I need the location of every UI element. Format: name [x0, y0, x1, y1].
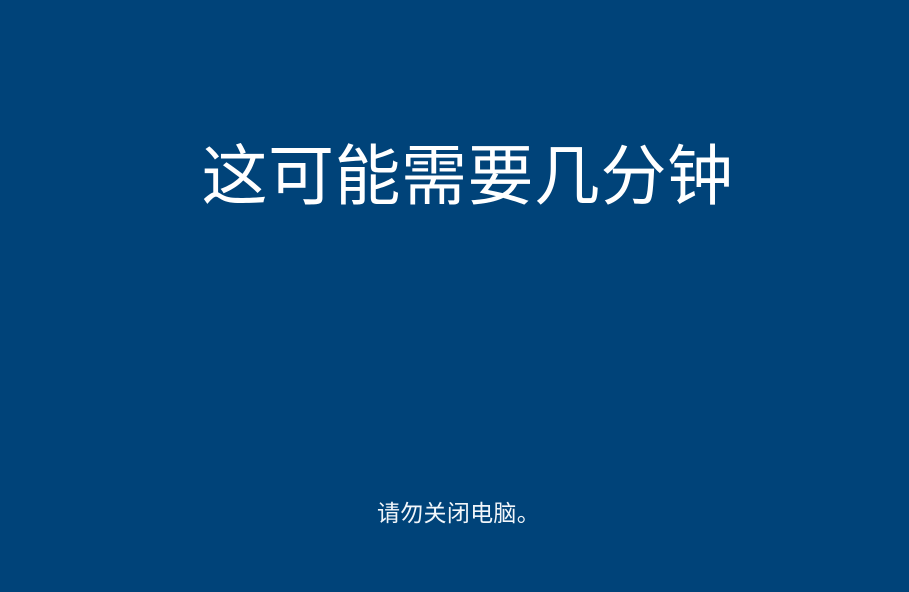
status-instruction-text: 请勿关闭电脑。: [0, 499, 909, 529]
page-title: 这可能需要几分钟: [0, 139, 909, 215]
windows-update-screen: 这可能需要几分钟 请勿关闭电脑。: [0, 0, 909, 592]
